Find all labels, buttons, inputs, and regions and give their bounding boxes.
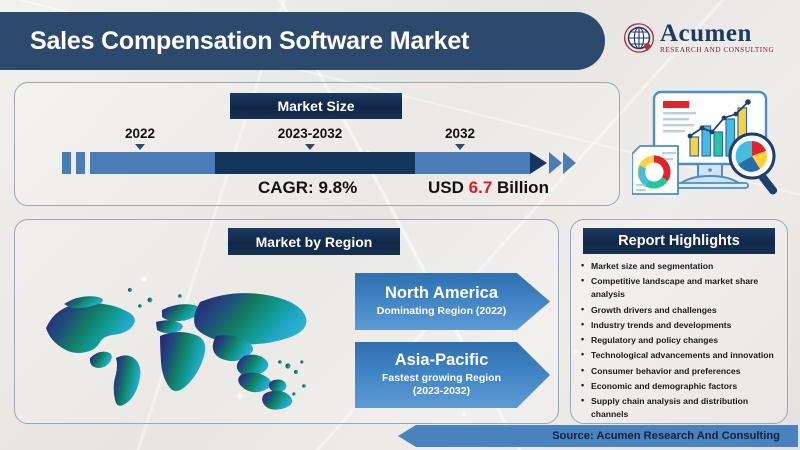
timeline-arrowhead-icon <box>530 152 547 174</box>
bullet-icon: • <box>581 394 584 408</box>
timeline-caret-end <box>455 144 465 150</box>
cagr-value: CAGR: 9.8% <box>258 178 357 198</box>
market-by-region-title: Market by Region <box>228 228 400 255</box>
timeline-caret-start <box>135 144 145 150</box>
highlight-text: Economic and demographic factors <box>591 381 737 391</box>
bullet-icon: • <box>581 333 584 347</box>
region-subtitle-period: (2023-2032) <box>413 385 470 398</box>
logo-tagline: RESEARCH AND CONSULTING <box>660 47 774 54</box>
region-subtitle: Fastest growing Region <box>382 372 501 385</box>
timeline-label-end-year: 2032 <box>425 126 495 141</box>
header-bar: Sales Compensation Software Market <box>0 12 605 70</box>
report-highlights-title: Report Highlights <box>583 228 775 254</box>
timeline-tick-2 <box>76 152 85 174</box>
highlight-text: Technological advancements and innovatio… <box>591 350 774 360</box>
region-name: North America <box>385 284 498 303</box>
bullet-icon: • <box>581 348 584 362</box>
globe-icon <box>622 21 656 55</box>
report-highlights-list: •Market size and segmentation•Competitiv… <box>578 260 784 439</box>
logo-name: Acumen <box>660 21 774 46</box>
highlight-item: •Competitive landscape and market share … <box>578 275 784 301</box>
timeline-segment-base <box>90 152 215 174</box>
source-bar: Source: Acumen Research And Consulting <box>398 425 798 447</box>
bullet-icon: • <box>581 318 584 332</box>
timeline-chevron-icon-1 <box>549 152 562 174</box>
highlight-item: •Technological advancements and innovati… <box>578 349 784 362</box>
timeline-segment-forecast <box>215 152 415 174</box>
highlight-item: •Growth drivers and challenges <box>578 304 784 317</box>
bullet-icon: • <box>581 274 584 288</box>
highlight-text: Market size and segmentation <box>591 261 713 271</box>
highlight-item: •Economic and demographic factors <box>578 380 784 393</box>
market-size-title: Market Size <box>230 93 402 119</box>
market-value-number: 6.7 <box>469 178 493 197</box>
bullet-icon: • <box>581 379 584 393</box>
timeline-caret-forecast <box>305 144 315 150</box>
highlight-item: •Industry trends and developments <box>578 319 784 332</box>
highlight-text: Industry trends and developments <box>591 320 731 330</box>
timeline-segment-end <box>415 152 530 174</box>
region-subtitle: Dominating Region (2022) <box>377 305 507 318</box>
bullet-icon: • <box>581 259 584 273</box>
market-value-prefix: USD <box>428 178 464 197</box>
highlight-item: •Supply chain analysis and distribution … <box>578 395 784 421</box>
highlight-text: Regulatory and policy changes <box>591 335 718 345</box>
logo-text: Acumen RESEARCH AND CONSULTING <box>660 21 774 54</box>
market-value: USD 6.7 Billion <box>428 178 549 198</box>
region-callout-asia-pacific: Asia-Pacific Fastest growing Region (202… <box>355 342 550 408</box>
market-value-suffix: Billion <box>497 178 549 197</box>
page-title: Sales Compensation Software Market <box>30 27 469 56</box>
timeline-label-start-year: 2022 <box>105 126 175 141</box>
highlight-text: Growth drivers and challenges <box>591 305 717 315</box>
region-name: Asia-Pacific <box>395 351 489 370</box>
highlight-item: •Consumer behavior and preferences <box>578 365 784 378</box>
analytics-dashboard-illustration <box>632 84 792 204</box>
timeline-chevron-icon-2 <box>563 152 576 174</box>
region-callout-north-america: North America Dominating Region (2022) <box>355 273 550 330</box>
highlight-text: Consumer behavior and preferences <box>591 366 740 376</box>
bullet-icon: • <box>581 303 584 317</box>
highlight-text: Competitive landscape and market share a… <box>591 276 758 299</box>
bullet-icon: • <box>581 364 584 378</box>
highlight-text: Supply chain analysis and distribution c… <box>591 396 748 419</box>
source-text: Source: Acumen Research And Consulting <box>552 430 780 442</box>
world-map-illustration <box>30 262 350 412</box>
timeline-tick-1 <box>62 152 71 174</box>
highlight-item: •Regulatory and policy changes <box>578 334 784 347</box>
highlight-item: •Market size and segmentation <box>578 260 784 273</box>
acumen-logo: Acumen RESEARCH AND CONSULTING <box>622 14 792 62</box>
timeline-label-forecast-period: 2023-2032 <box>255 126 365 141</box>
